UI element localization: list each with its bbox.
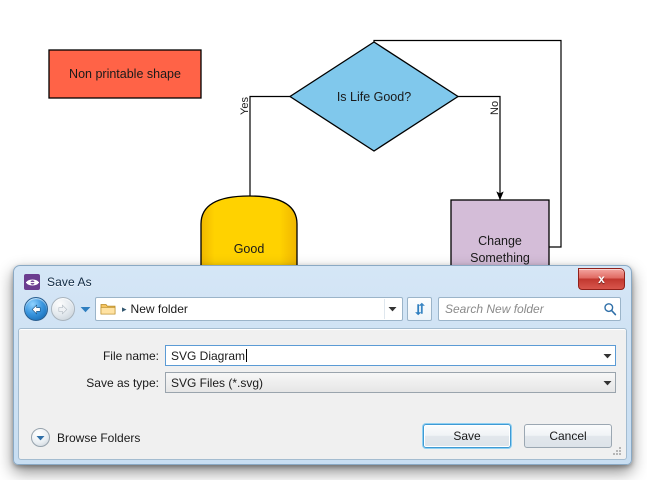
filename-value: SVG Diagram [171,349,245,363]
chevron-down-icon [603,353,612,359]
filename-row: File name: SVG Diagram [19,345,616,366]
dialog-title: Save As [47,275,92,289]
filename-label: File name: [19,349,165,363]
cancel-button[interactable]: Cancel [524,424,612,448]
dialog-body: File name: SVG Diagram Save as type: SVG… [18,328,627,460]
address-dropdown-button[interactable] [384,299,400,319]
chevron-down-circle-icon [31,428,50,447]
edge-no: No [437,97,501,201]
chevron-down-icon [603,380,612,386]
dialog-navbar[interactable]: ▸ New folder Search New folder [18,294,627,324]
dialog-titlebar[interactable]: Save As x [18,270,627,294]
close-icon: x [598,273,605,285]
edge-label-yes: Yes [239,97,251,115]
chevron-down-icon [388,306,397,312]
filename-input[interactable]: SVG Diagram [166,349,599,363]
filetype-row: Save as type: SVG Files (*.svg) [19,372,616,393]
address-bar[interactable]: ▸ New folder [95,297,403,321]
close-button[interactable]: x [578,268,625,290]
node-non-printable[interactable]: Non printable shape [49,50,201,98]
svg-editor-icon [24,274,40,290]
filetype-value: SVG Files (*.svg) [166,376,599,390]
node-decision[interactable]: Is Life Good? [290,42,458,151]
filetype-dropdown-button[interactable] [599,373,615,392]
back-button[interactable] [24,297,48,321]
dialog-button-row: Save Cancel [423,424,612,448]
node-label-change-line2: Something [470,251,530,265]
node-label-decision: Is Life Good? [337,90,411,104]
node-label-non-printable: Non printable shape [69,67,181,81]
node-label-change-line1: Change [478,234,522,248]
search-input[interactable]: Search New folder [445,302,603,316]
save-as-dialog[interactable]: Save As x [13,265,632,465]
filetype-combobox[interactable]: SVG Files (*.svg) [165,372,616,393]
browse-folders-button[interactable]: Browse Folders [31,428,140,447]
back-arrow-icon [30,304,42,315]
search-box[interactable]: Search New folder [438,297,621,321]
search-icon [603,302,617,316]
breadcrumb-separator[interactable]: ▸ [122,304,127,315]
filetype-label: Save as type: [19,376,165,390]
save-button[interactable]: Save [423,424,511,448]
filename-combobox[interactable]: SVG Diagram [165,345,616,366]
chevron-down-icon [80,306,91,313]
text-cursor [246,349,247,362]
breadcrumb-current[interactable]: New folder [131,302,384,316]
node-label-good: Good [234,242,265,256]
forward-arrow-icon [57,304,69,315]
filename-dropdown-button[interactable] [599,346,615,365]
edge-label-no: No [489,101,501,115]
resize-grip[interactable] [611,445,623,457]
history-dropdown-button[interactable] [78,298,92,320]
refresh-button[interactable] [407,297,432,321]
browse-folders-label: Browse Folders [57,431,140,445]
folder-icon [100,302,116,316]
forward-button[interactable] [51,297,75,321]
refresh-icon [413,302,427,316]
